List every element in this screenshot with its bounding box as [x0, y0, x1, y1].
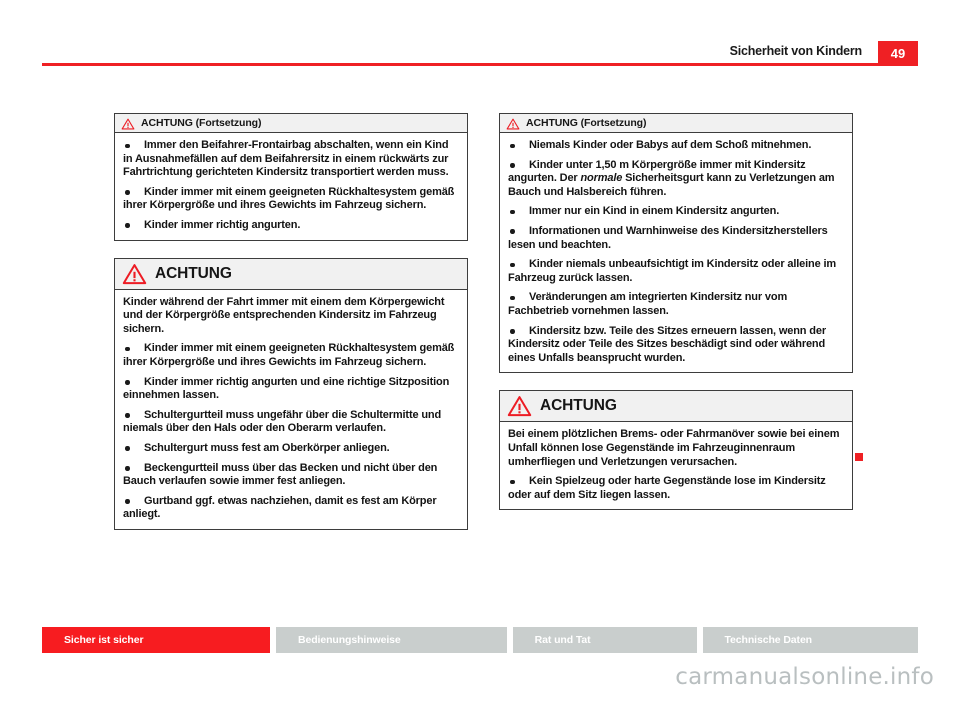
warning-bullet-text: Beckengurtteil muss über das Becken und …	[123, 462, 459, 489]
warning-bullet-text: Kinder immer richtig angurten.	[123, 219, 459, 233]
warning-box-body: Immer den Beifahrer-Frontairbag abschalt…	[115, 133, 467, 240]
warning-bullet-text: Schultergurt muss fest am Oberkörper anl…	[123, 442, 459, 456]
warning-box-title: ACHTUNG	[155, 265, 232, 283]
warning-bullet-item: Beckengurtteil muss über das Becken und …	[123, 462, 459, 489]
bullet-dot-icon	[125, 347, 130, 352]
bullet-dot-icon	[510, 144, 515, 149]
bullet-dot-icon	[125, 190, 130, 195]
warning-bullet-item: Immer den Beifahrer-Frontairbag abschalt…	[123, 139, 459, 180]
bullet-dot-icon	[510, 296, 515, 301]
bullet-dot-icon	[125, 223, 130, 228]
warning-bullet-item: Kinder niemals unbeaufsichtigt im Kinder…	[508, 258, 844, 285]
warning-bullet-item: Kinder immer richtig angurten.	[123, 219, 459, 233]
warning-paragraph: Kinder während der Fahrt immer mit einem…	[123, 296, 459, 337]
bullet-dot-icon	[125, 499, 130, 504]
warning-bullet-item: Veränderungen am integrierten Kindersitz…	[508, 291, 844, 318]
bullet-dot-icon	[125, 466, 130, 471]
footer-tab-3[interactable]: Technische Daten	[703, 627, 918, 653]
footer-tab-2[interactable]: Rat und Tat	[513, 627, 697, 653]
footer-tab-0[interactable]: Sicher ist sicher	[42, 627, 270, 653]
warning-box-header: ACHTUNG	[115, 259, 467, 290]
warning-bullet-item: Schultergurt muss fest am Oberkörper anl…	[123, 442, 459, 456]
watermark: carmanualsonline.info	[675, 664, 934, 690]
bullet-dot-icon	[125, 144, 130, 149]
warning-box-title: ACHTUNG (Fortsetzung)	[141, 117, 261, 129]
warning-bullet-item: Kinder immer mit einem geeigneten Rückha…	[123, 186, 459, 213]
warning-box-header: ACHTUNG	[500, 391, 852, 422]
warning-bullet-text: Gurtband ggf. etwas nachziehen, damit es…	[123, 495, 459, 522]
warning-box-body: Bei einem plötzlichen Brems- oder Fahrma…	[500, 422, 852, 509]
warning-bullet-text: Immer nur ein Kind in einem Kindersitz a…	[508, 205, 844, 219]
warning-triangle-icon	[121, 117, 135, 129]
warning-box: ACHTUNGKinder während der Fahrt immer mi…	[114, 258, 468, 530]
warning-box-title: ACHTUNG	[540, 397, 617, 415]
warning-bullet-text: Kinder unter 1,50 m Körpergröße immer mi…	[508, 159, 844, 200]
warning-bullet-text: Schultergurtteil muss ungefähr über die …	[123, 409, 459, 436]
content-column-right: ACHTUNG (Fortsetzung)Niemals Kinder oder…	[499, 113, 853, 527]
warning-bullet-text: Immer den Beifahrer-Frontairbag abschalt…	[123, 139, 459, 180]
footer-tab-bar: Sicher ist sicherBedienungshinweiseRat u…	[42, 627, 918, 653]
section-end-marker	[855, 453, 863, 461]
warning-box: ACHTUNG (Fortsetzung)Immer den Beifahrer…	[114, 113, 468, 241]
bullet-dot-icon	[510, 229, 515, 234]
bullet-dot-icon	[510, 163, 515, 168]
warning-box-header: ACHTUNG (Fortsetzung)	[500, 114, 852, 133]
warning-box: ACHTUNG (Fortsetzung)Niemals Kinder oder…	[499, 113, 853, 373]
warning-bullet-item: Gurtband ggf. etwas nachziehen, damit es…	[123, 495, 459, 522]
warning-bullet-item: Kinder unter 1,50 m Körpergröße immer mi…	[508, 159, 844, 200]
warning-box-title: ACHTUNG (Fortsetzung)	[526, 117, 646, 129]
bullet-dot-icon	[510, 210, 515, 215]
warning-bullet-item: Kindersitz bzw. Teile des Sitzes erneuer…	[508, 325, 844, 366]
page-content: ACHTUNG (Fortsetzung)Immer den Beifahrer…	[0, 0, 960, 620]
footer-tab-1[interactable]: Bedienungshinweise	[276, 627, 507, 653]
warning-bullet-item: Kinder immer mit einem geeigneten Rückha…	[123, 342, 459, 369]
warning-bullet-item: Schultergurtteil muss ungefähr über die …	[123, 409, 459, 436]
warning-triangle-icon	[507, 395, 532, 417]
bullet-dot-icon	[510, 263, 515, 268]
warning-bullet-item: Informationen und Warnhinweise des Kinde…	[508, 225, 844, 252]
warning-bullet-text: Informationen und Warnhinweise des Kinde…	[508, 225, 844, 252]
bullet-dot-icon	[125, 413, 130, 418]
warning-bullet-text: Kinder niemals unbeaufsichtigt im Kinder…	[508, 258, 844, 285]
warning-box-body: Niemals Kinder oder Babys auf dem Schoß …	[500, 133, 852, 372]
warning-bullet-item: Immer nur ein Kind in einem Kindersitz a…	[508, 205, 844, 219]
bullet-dot-icon	[510, 329, 515, 334]
warning-bullet-item: Kein Spielzeug oder harte Gegenstände lo…	[508, 475, 844, 502]
warning-paragraph: Bei einem plötzlichen Brems- oder Fahrma…	[508, 428, 844, 469]
content-column-left: ACHTUNG (Fortsetzung)Immer den Beifahrer…	[114, 113, 468, 547]
warning-box-body: Kinder während der Fahrt immer mit einem…	[115, 290, 467, 529]
warning-bullet-text: Veränderungen am integrierten Kindersitz…	[508, 291, 844, 318]
warning-bullet-text: Kindersitz bzw. Teile des Sitzes erneuer…	[508, 325, 844, 366]
warning-bullet-text: Kinder immer mit einem geeigneten Rückha…	[123, 186, 459, 213]
warning-box: ACHTUNGBei einem plötzlichen Brems- oder…	[499, 390, 853, 510]
warning-triangle-icon	[506, 117, 520, 129]
bullet-dot-icon	[125, 380, 130, 385]
warning-bullet-item: Niemals Kinder oder Babys auf dem Schoß …	[508, 139, 844, 153]
bullet-dot-icon	[125, 446, 130, 451]
warning-box-header: ACHTUNG (Fortsetzung)	[115, 114, 467, 133]
warning-bullet-text: Kinder immer mit einem geeigneten Rückha…	[123, 342, 459, 369]
warning-bullet-text: Kein Spielzeug oder harte Gegenstände lo…	[508, 475, 844, 502]
bullet-dot-icon	[510, 480, 515, 485]
warning-triangle-icon	[122, 263, 147, 285]
warning-bullet-text: Kinder immer richtig angurten und eine r…	[123, 376, 459, 403]
warning-bullet-text: Niemals Kinder oder Babys auf dem Schoß …	[508, 139, 844, 153]
warning-bullet-item: Kinder immer richtig angurten und eine r…	[123, 376, 459, 403]
